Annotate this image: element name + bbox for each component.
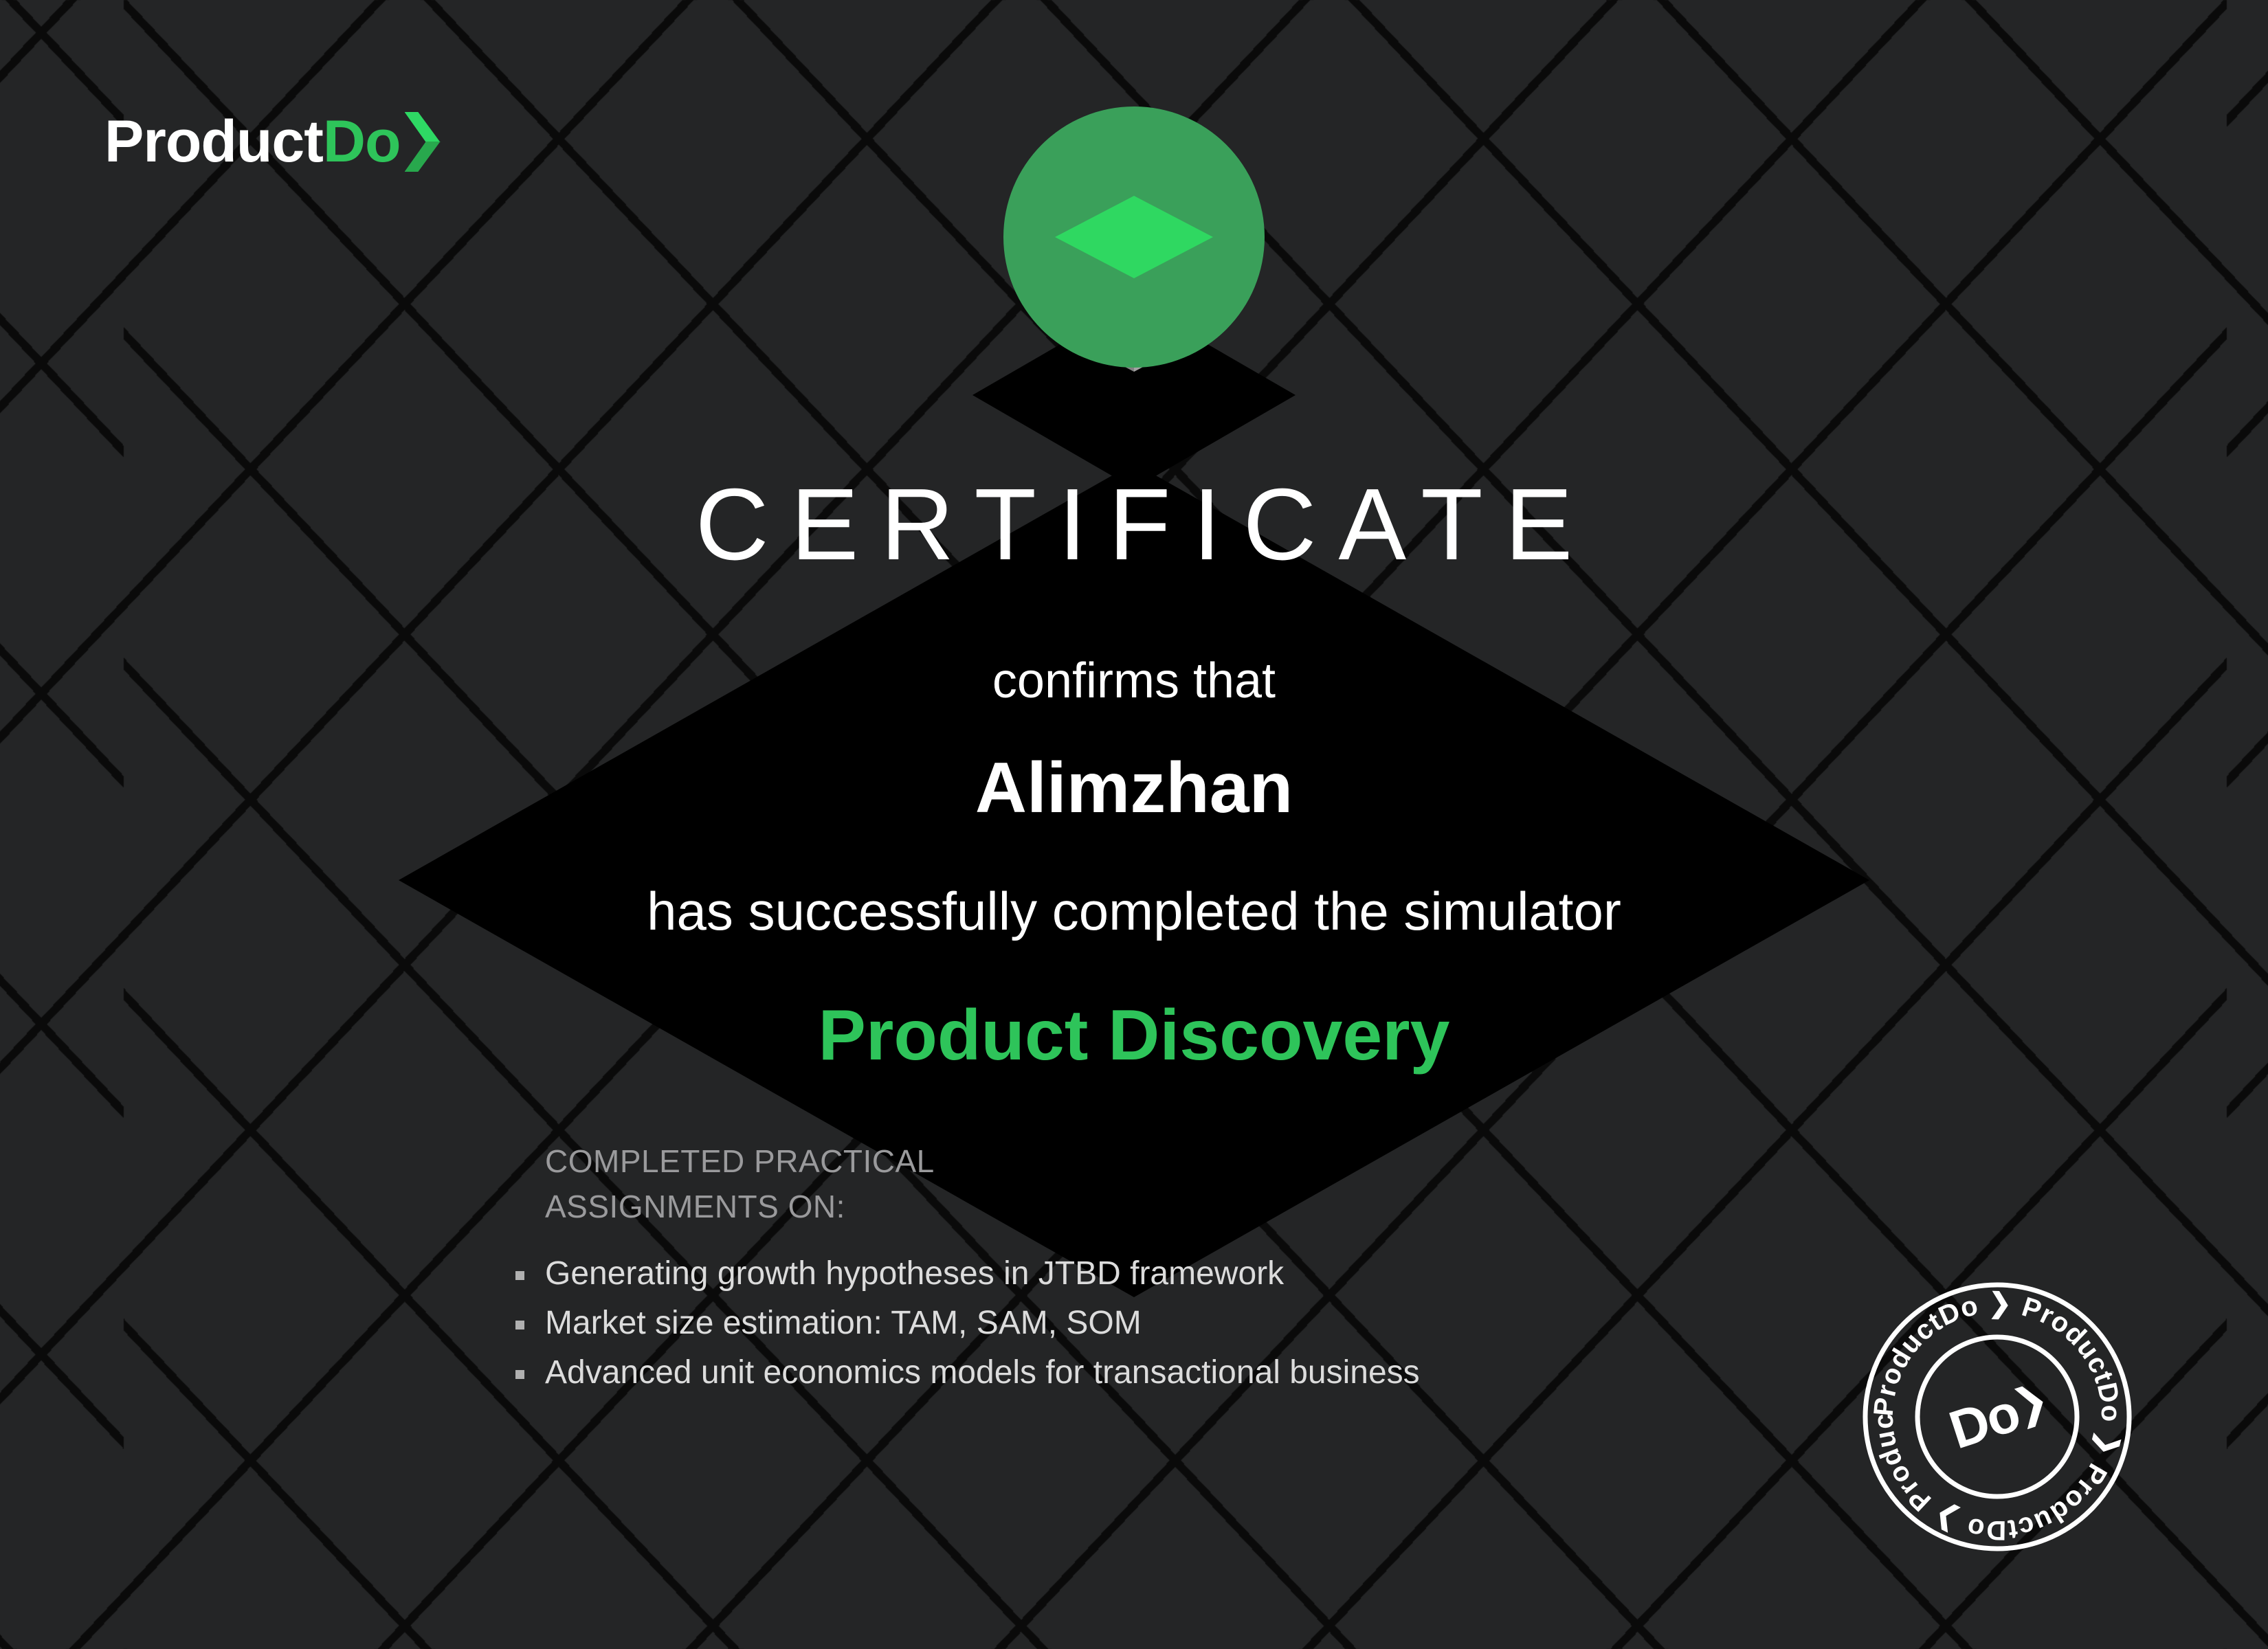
seal-center-label: Do (1943, 1385, 2025, 1457)
assignments-heading: COMPLETED PRACTICAL ASSIGNMENTS ON: (545, 1138, 935, 1229)
chevron-right-icon (405, 112, 441, 171)
page-title: CERTIFICATE (0, 474, 2268, 576)
list-item-label: Generating growth hypotheses in JTBD fra… (545, 1255, 1284, 1292)
list-item: Market size estimation: TAM, SAM, SOM (515, 1299, 1420, 1348)
list-item-label: Advanced unit economics models for trans… (545, 1354, 1420, 1391)
list-item: Advanced unit economics models for trans… (515, 1348, 1420, 1398)
bullet-square-icon (515, 1271, 524, 1280)
list-item-label: Market size estimation: TAM, SAM, SOM (545, 1305, 1142, 1341)
certificate-seal-stamp: ProductDo ❯ ProductDo ❯ ProductDo ❯ Prod… (1860, 1279, 2135, 1554)
course-name: Product Discovery (0, 1000, 2268, 1071)
assignments-list: Generating growth hypotheses in JTBD fra… (515, 1249, 1420, 1398)
certificate-canvas: Product Do CERTIFICATE confirms that Ali… (0, 0, 2268, 1649)
list-item: Generating growth hypotheses in JTBD fra… (515, 1249, 1420, 1299)
completion-statement: has successfully completed the simulator (0, 884, 2268, 938)
confirms-label: confirms that (0, 656, 2268, 706)
recipient-name: Alimzhan (0, 752, 2268, 824)
bullet-square-icon (515, 1370, 524, 1379)
brand-logo: Product Do (104, 109, 441, 175)
logo-text-do: Do (323, 112, 401, 171)
logo-text-product: Product (104, 112, 323, 171)
bullet-square-icon (515, 1321, 524, 1330)
